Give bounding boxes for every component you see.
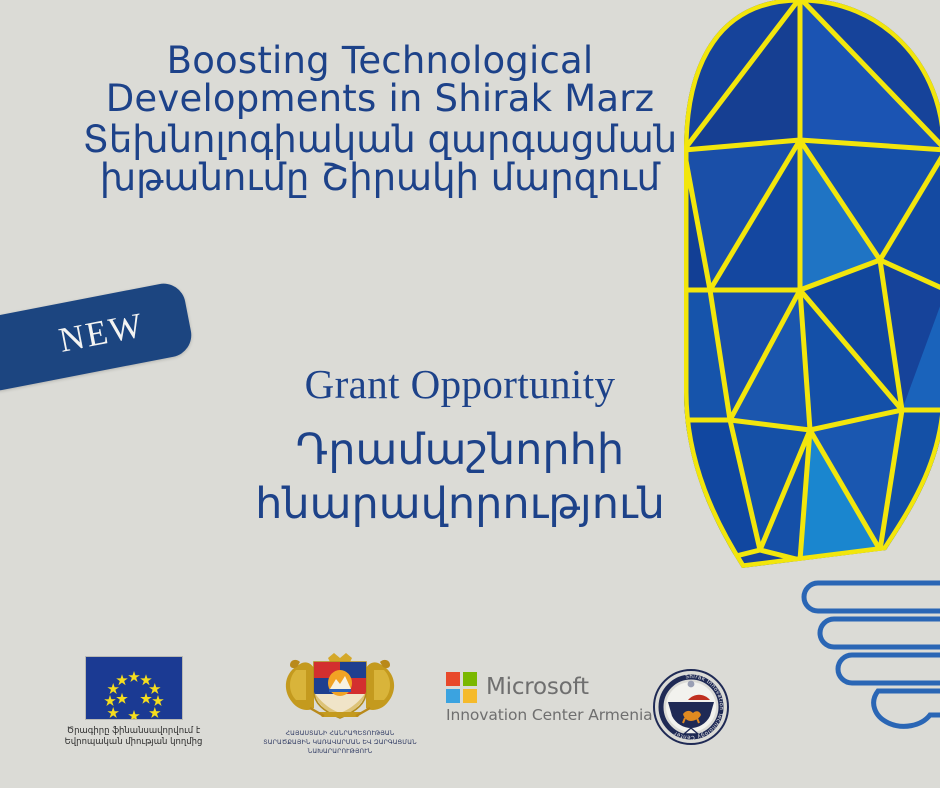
armenia-ministry-logo: ՀԱՅԱՍՏԱՆԻ ՀԱՆՐԱՊԵՏՈՒԹՅԱՆ ՏԱՐԱԾՔԱՅԻՆ ԿԱՌԱ…	[240, 650, 440, 757]
microsoft-wordmark-row: Microsoft	[446, 672, 646, 703]
grant-block: Grant Opportunity Դրամաշնորհի հնարավորու…	[150, 362, 770, 528]
microsoft-wordmark: Microsoft	[486, 676, 589, 699]
eu-caption-line-1: Ծրագիրը ֆինանսավորվում է	[46, 726, 221, 737]
armenia-caption-line-2: ՏԱՐԱԾՔԱՅԻՆ ԿԱՌԱՎԱՐՄԱՆ ԵՎ ԶԱՐԳԱՑՄԱՆ	[240, 739, 440, 748]
eu-flag-icon	[85, 656, 183, 720]
armenia-caption-line-3: ՆԱԽԱՐԱՐՈՒԹՅՈՒՆ	[240, 748, 440, 757]
headline-english-line-2: Developments in Shirak Marz	[40, 80, 720, 118]
headline-armenian-line-1: Տեխնոլոգիական զարգացման	[40, 121, 720, 159]
microsoft-subtitle: Innovation Center Armenia	[446, 706, 646, 724]
grant-english: Grant Opportunity	[150, 362, 770, 408]
eu-caption-line-2: Եվրոպական միության կողմից	[46, 737, 221, 748]
headline-armenian-line-2: խթանումը Շիրակի մարզում	[40, 159, 720, 197]
eu-logo-caption: Ծրագիրը ֆինանսավորվում է Եվրոպական միութ…	[46, 726, 221, 749]
armenia-logo-caption: ՀԱՅԱՍՏԱՆԻ ՀԱՆՐԱՊԵՏՈՒԹՅԱՆ ՏԱՐԱԾՔԱՅԻՆ ԿԱՌԱ…	[240, 730, 440, 757]
microsoft-squares-icon	[446, 672, 477, 703]
headline-block: Boosting Technological Developments in S…	[40, 42, 720, 198]
partner-logo-strip: Ծրագիրը ֆինանսավորվում է Եվրոպական միութ…	[0, 648, 940, 773]
shirak-seal-icon: Shirak Innovation Technology Center	[650, 666, 732, 748]
poster-canvas: Boosting Technological Developments in S…	[0, 0, 940, 788]
headline-armenian: Տեխնոլոգիական զարգացման խթանումը Շիրակի …	[40, 121, 720, 198]
grant-english-line-1: Grant Opportunity	[150, 362, 770, 408]
armenia-coat-of-arms-icon	[240, 650, 440, 722]
headline-english: Boosting Technological Developments in S…	[40, 42, 720, 119]
microsoft-logo: Microsoft Innovation Center Armenia	[446, 672, 646, 724]
headline-english-line-1: Boosting Technological	[40, 42, 720, 80]
armenia-caption-line-1: ՀԱՅԱՍՏԱՆԻ ՀԱՆՐԱՊԵՏՈՒԹՅԱՆ	[240, 730, 440, 739]
grant-armenian-line-1: Դրամաշնորհի	[150, 426, 770, 474]
grant-armenian: Դրամաշնորհի հնարավորություն	[150, 426, 770, 528]
eu-logo: Ծրագիրը ֆինանսավորվում է Եվրոպական միութ…	[46, 656, 221, 749]
shirak-center-logo: Shirak Innovation Technology Center	[650, 666, 732, 748]
grant-armenian-line-2: հնարավորություն	[150, 480, 770, 528]
